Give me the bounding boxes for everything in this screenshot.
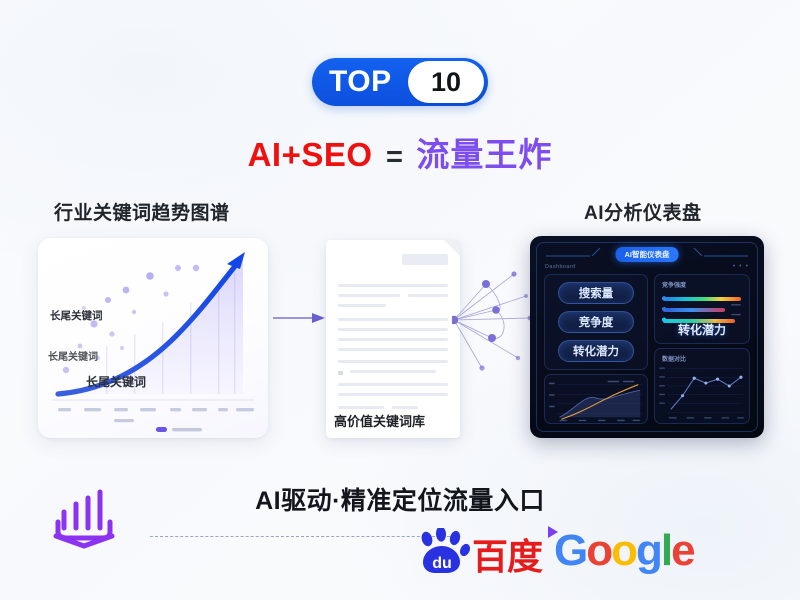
document-text-line xyxy=(338,284,448,287)
play-triangle-icon xyxy=(545,524,561,540)
trend-chart-svg xyxy=(38,238,268,438)
left-section-caption: 行业关键词趋势图谱 xyxy=(54,198,230,225)
document-bullet xyxy=(338,371,343,375)
top-badge-number: 10 xyxy=(431,69,461,96)
dashboard-topbar: AI智能仪表盘 xyxy=(544,246,750,261)
document-header-block xyxy=(402,254,448,265)
trend-keyword-label-2: 长尾关键词 xyxy=(48,348,98,363)
trend-keyword-label-3: 长尾关键词 xyxy=(86,373,146,390)
svg-text:du: du xyxy=(432,555,452,572)
document-caption: 高价值关键词库 xyxy=(334,411,425,430)
google-letter-o1: o xyxy=(586,526,611,575)
dashboard-subtitle: Dashboard xyxy=(545,264,576,270)
right-section-caption: AI分析仪表盘 xyxy=(584,198,702,225)
document-text-line xyxy=(338,406,384,409)
document-text-line xyxy=(338,318,448,321)
dashboard-comparison-panel: 数据对比 xyxy=(654,348,750,424)
dashboard-trend-panel xyxy=(544,374,648,424)
document-text-line xyxy=(392,406,418,409)
growth-bars-icon xyxy=(48,486,122,552)
top-badge-number-pill: 10 xyxy=(408,61,484,103)
document-text-line xyxy=(350,370,436,373)
baidu-logo: du 百度 xyxy=(418,528,542,574)
document-text-line xyxy=(338,304,386,307)
page-title: AI+SEO = 流量王炸 xyxy=(0,128,800,176)
keyword-trend-card: 长尾关键词 长尾关键词 长尾关键词 xyxy=(38,238,268,438)
gauge-caption: 转化潜力 xyxy=(655,321,749,338)
headline-left: AI+SEO xyxy=(248,136,373,173)
footer-dashed-connector xyxy=(150,536,450,537)
dashboard-gauge-panel: 竞争强度 转化潜力 xyxy=(654,274,750,344)
document-text-line xyxy=(338,360,448,363)
dashboard-title-badge: AI智能仪表盘 xyxy=(616,247,679,262)
google-letter-o2: o xyxy=(611,526,636,575)
metric-pill-conversion[interactable]: 转化潜力 xyxy=(558,340,634,362)
google-letter-l: l xyxy=(661,526,671,575)
metric-pill-competition[interactable]: 竞争度 xyxy=(558,311,634,333)
top-rank-badge: TOP 10 xyxy=(312,58,488,106)
google-letter-e: e xyxy=(671,526,693,575)
document-text-line xyxy=(338,348,448,351)
metric-pill-search-volume[interactable]: 搜索量 xyxy=(558,282,634,304)
document-text-line xyxy=(338,393,448,396)
top-badge-word: TOP xyxy=(329,67,392,97)
poster-canvas: TOP 10 AI+SEO = 流量王炸 行业关键词趋势图谱 AI分析仪表盘 xyxy=(0,0,800,600)
flow-arrow-right-icon xyxy=(273,311,325,325)
document-text-line xyxy=(338,338,448,341)
document-text-line xyxy=(408,294,448,297)
headline-right: 流量王炸 xyxy=(416,136,552,173)
baidu-logo-text: 百度 xyxy=(472,540,542,574)
google-letter-g2: g xyxy=(636,526,661,575)
document-text-line xyxy=(338,328,448,331)
dashboard-trend-chart xyxy=(545,375,647,423)
document-text-line xyxy=(338,294,400,297)
google-logo: Google xyxy=(554,529,694,573)
headline-equals: = xyxy=(377,141,412,173)
dashboard-comparison-chart xyxy=(655,349,749,423)
document-text-line xyxy=(338,383,448,386)
trend-keyword-label-1: 长尾关键词 xyxy=(50,308,103,323)
node-network-graphic xyxy=(452,262,532,382)
ai-dashboard-card: AI智能仪表盘 Dashboard • • • 搜索量 竞争度 转化潜力 xyxy=(530,236,764,438)
dashboard-menu-dots[interactable]: • • • xyxy=(733,263,749,270)
dashboard-metrics-panel: 搜索量 竞争度 转化潜力 xyxy=(544,274,648,370)
keyword-library-document-card: 高价值关键词库 xyxy=(326,240,460,438)
baidu-paw-icon: du xyxy=(418,528,470,574)
